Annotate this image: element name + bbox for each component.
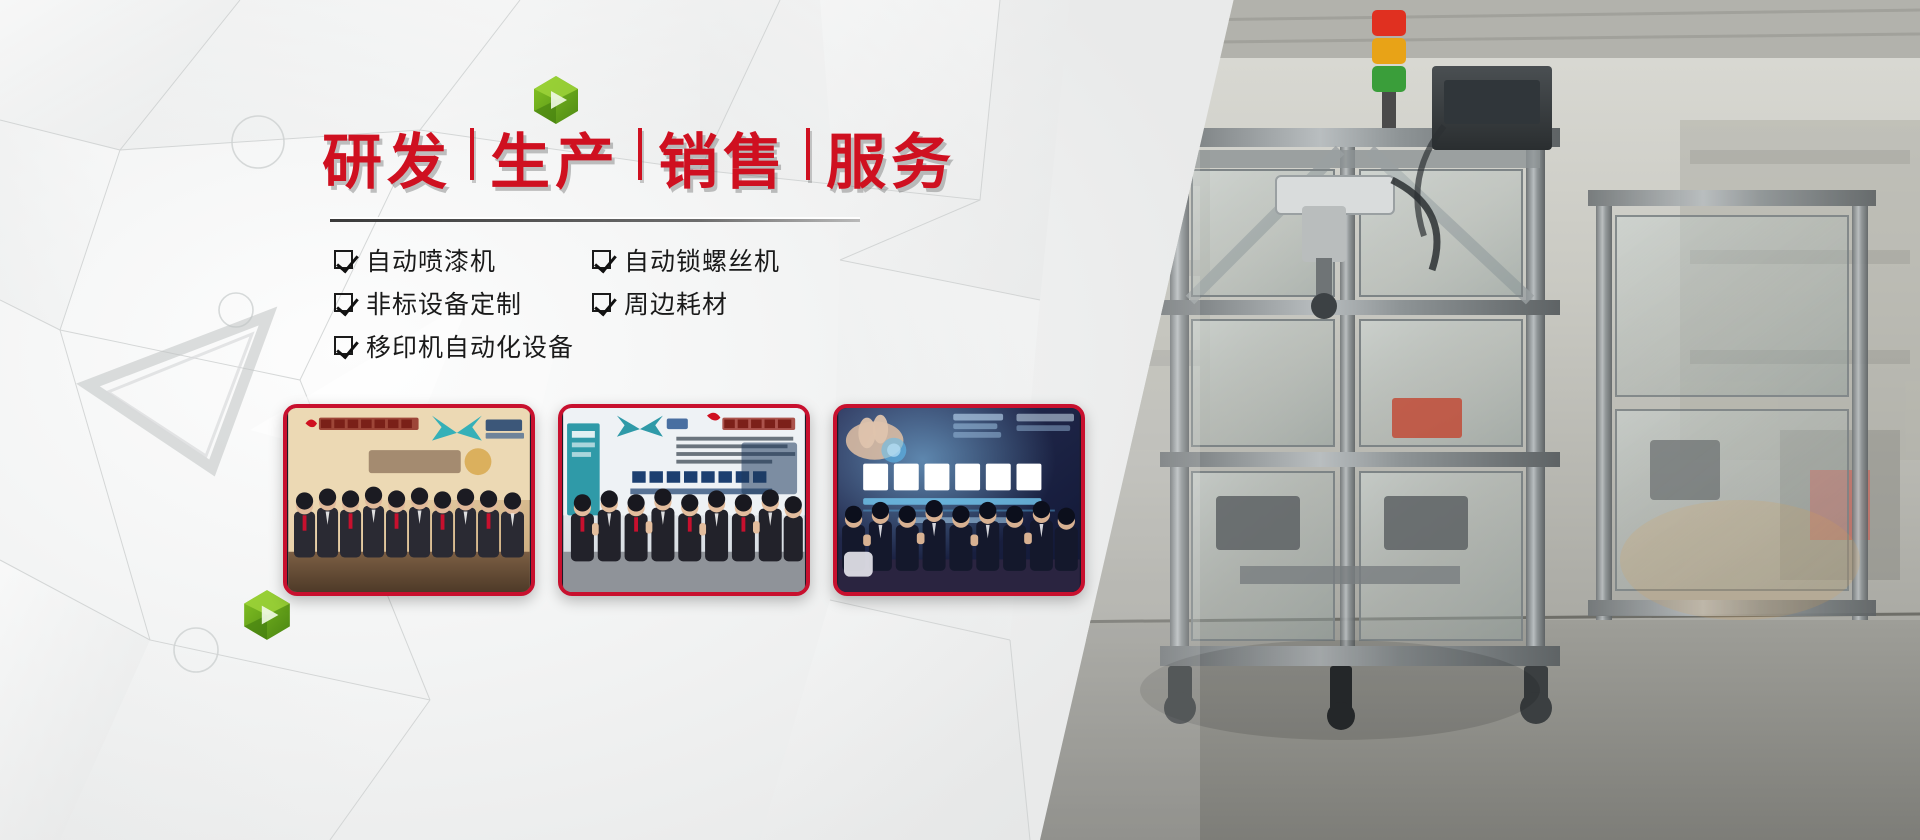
checkbox-checked-icon [592, 293, 611, 312]
title-word-rd: 研发 [322, 133, 452, 193]
photo-card-gallery [283, 404, 1085, 596]
title-word-service: 服务 [826, 133, 956, 193]
feature-label: 移印机自动化设备 [366, 328, 574, 364]
feature-label: 非标设备定制 [366, 285, 522, 321]
feature-list: 自动喷漆机 自动锁螺丝机 非标设备定制 周边耗材 移印机自动化设备 [334, 238, 894, 367]
headline-divider [330, 219, 860, 222]
feature-label: 周边耗材 [624, 285, 728, 321]
title-word-produce: 生产 [490, 133, 620, 193]
page-title: 研发 生产 销售 服务 [322, 131, 956, 203]
title-separator-3 [806, 128, 810, 180]
checkbox-checked-icon [334, 293, 353, 312]
title-separator-2 [638, 128, 642, 180]
title-separator-1 [470, 128, 474, 180]
feature-item-pad-printing: 移印机自动化设备 [334, 328, 592, 364]
machinery-photo [1040, 0, 1920, 840]
checkbox-checked-icon [334, 250, 353, 269]
feature-item-auto-screw: 自动锁螺丝机 [592, 242, 852, 278]
card-award-team[interactable] [283, 404, 535, 596]
feature-item-custom-equipment: 非标设备定制 [334, 285, 592, 321]
feature-label: 自动锁螺丝机 [624, 242, 780, 278]
feature-label: 自动喷漆机 [366, 242, 496, 278]
promo-banner: 研发 生产 销售 服务 自动喷漆机 自动锁螺丝机 非标设备定制 周边耗材 移印机… [0, 0, 1920, 840]
checkbox-checked-icon [592, 250, 611, 269]
title-word-sales: 销售 [658, 133, 788, 193]
card-exhibition-team[interactable] [558, 404, 810, 596]
checkbox-checked-icon [334, 336, 353, 355]
hexagon-play-accent-top [530, 74, 582, 126]
hexagon-play-accent-bottom [240, 588, 294, 642]
feature-item-auto-spray: 自动喷漆机 [334, 242, 592, 278]
card-conference-team[interactable] [833, 404, 1085, 596]
feature-item-consumables: 周边耗材 [592, 285, 852, 321]
